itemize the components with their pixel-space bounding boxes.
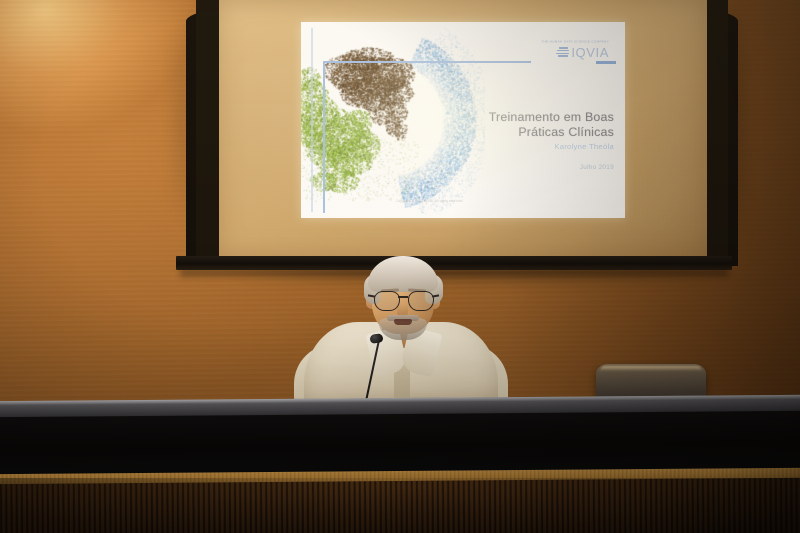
photo-vignette xyxy=(0,0,800,533)
photo-scene: THE HUMAN DATA SCIENCE COMPANY IQVIA Tre… xyxy=(0,0,800,533)
